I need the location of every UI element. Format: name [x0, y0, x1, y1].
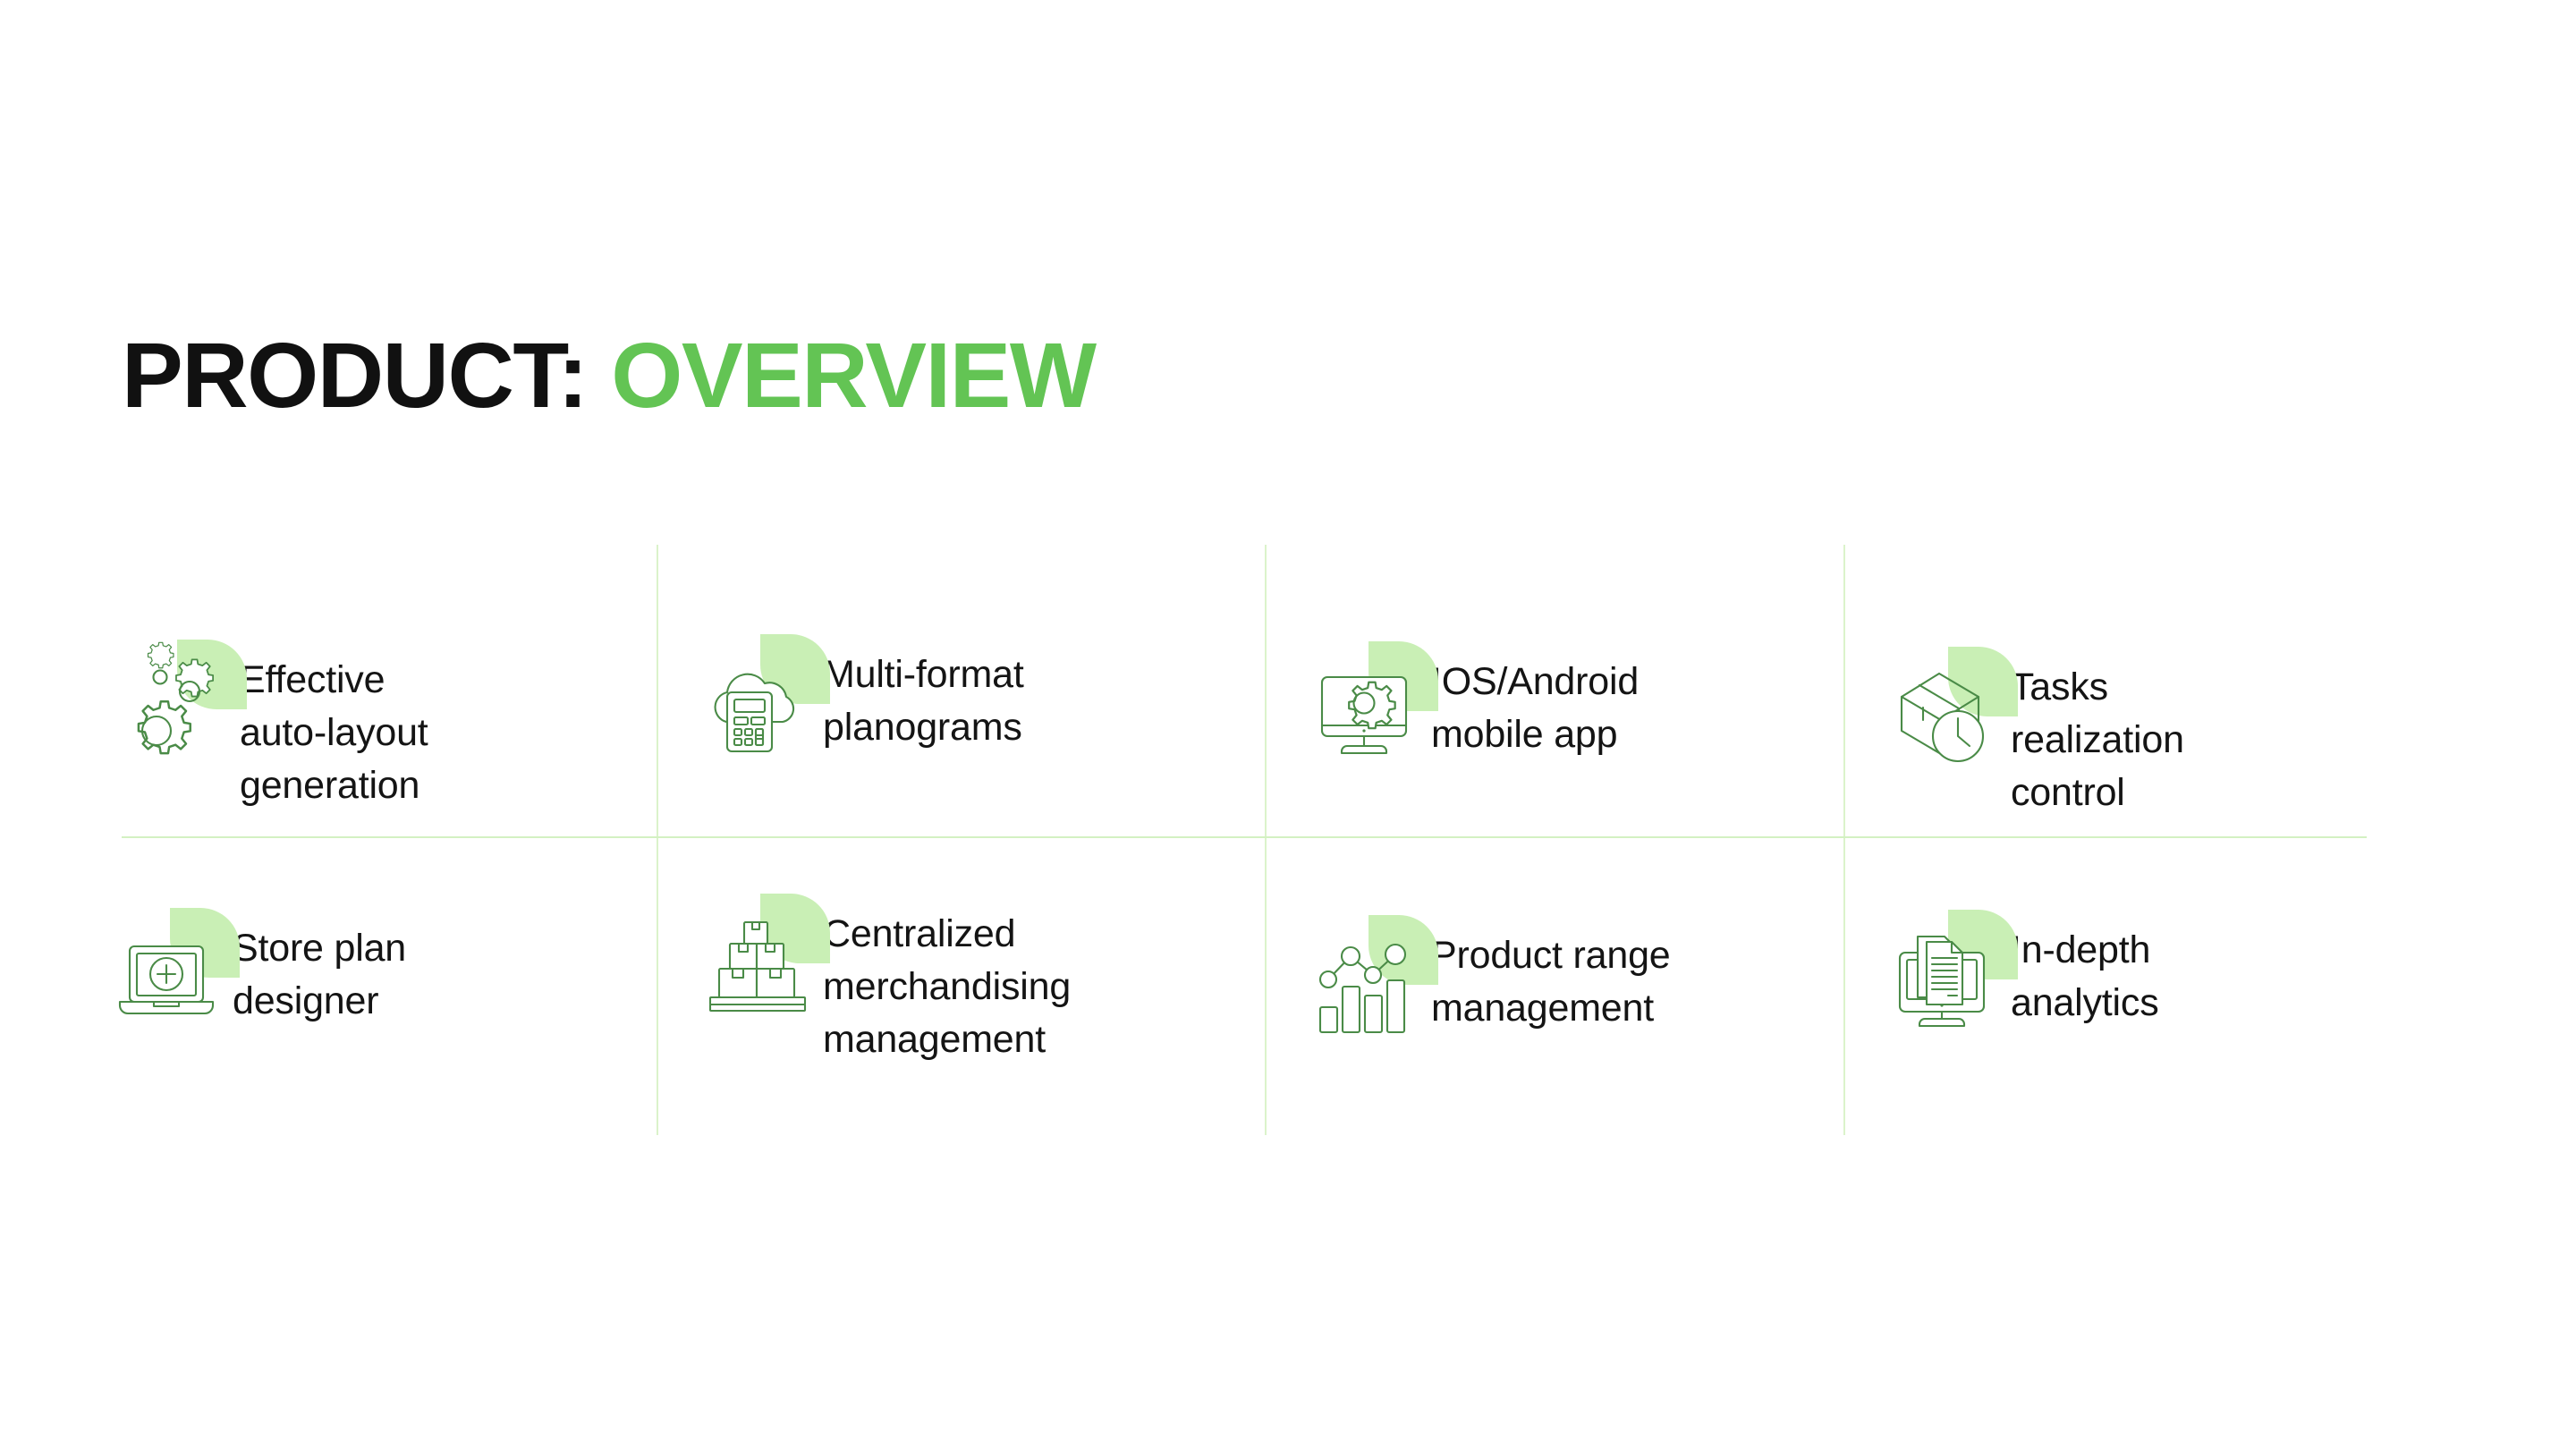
- bar-line-chart-icon: [1313, 920, 1431, 1038]
- feature-card-ios-android-mobile-app[interactable]: IOS/Android mobile app: [1313, 647, 1778, 765]
- feature-label: Centralized merchandising management: [823, 899, 1071, 1066]
- page-title-primary: PRODUCT:: [122, 324, 587, 427]
- feature-label: Product range management: [1431, 920, 1671, 1035]
- grid-vertical-divider-3: [1843, 545, 1845, 1135]
- feature-label: Multi-format planograms: [823, 640, 1024, 754]
- page-title: PRODUCT: OVERVIEW: [122, 327, 1096, 424]
- feature-label: Tasks realization control: [2011, 652, 2184, 819]
- grid-horizontal-divider: [122, 836, 2367, 838]
- feature-card-store-plan-designer[interactable]: Store plan designer: [114, 913, 597, 1031]
- feature-card-in-depth-analytics[interactable]: In-depth analytics: [1893, 915, 2358, 1033]
- feature-label: IOS/Android mobile app: [1431, 647, 1639, 761]
- monitor-documents-icon: [1893, 915, 2011, 1033]
- grid-vertical-divider-2: [1265, 545, 1267, 1135]
- cloud-calculator-icon: [705, 640, 823, 758]
- feature-card-product-range-management[interactable]: Product range management: [1313, 920, 1778, 1038]
- grid-vertical-divider-1: [657, 545, 658, 1135]
- page-title-accent: OVERVIEW: [611, 324, 1095, 427]
- feature-card-effective-auto-layout-generation[interactable]: Effective auto-layout generation: [122, 645, 605, 812]
- stacked-boxes-pallet-icon: [705, 899, 823, 1017]
- gears-icon: [122, 645, 240, 763]
- feature-label: Store plan designer: [233, 913, 406, 1028]
- laptop-plus-icon: [114, 913, 233, 1031]
- feature-grid: Effective auto-layout generation: [122, 539, 2368, 1139]
- feature-card-tasks-realization-control[interactable]: Tasks realization control: [1893, 652, 2358, 819]
- monitor-gear-icon: [1313, 647, 1431, 765]
- feature-label: In-depth analytics: [2011, 915, 2159, 1030]
- feature-card-centralized-merchandising-management[interactable]: Centralized merchandising management: [705, 899, 1188, 1066]
- box-clock-icon: [1893, 652, 2011, 770]
- feature-label: Effective auto-layout generation: [240, 645, 428, 812]
- feature-card-multi-format-planograms[interactable]: Multi-format planograms: [705, 640, 1188, 758]
